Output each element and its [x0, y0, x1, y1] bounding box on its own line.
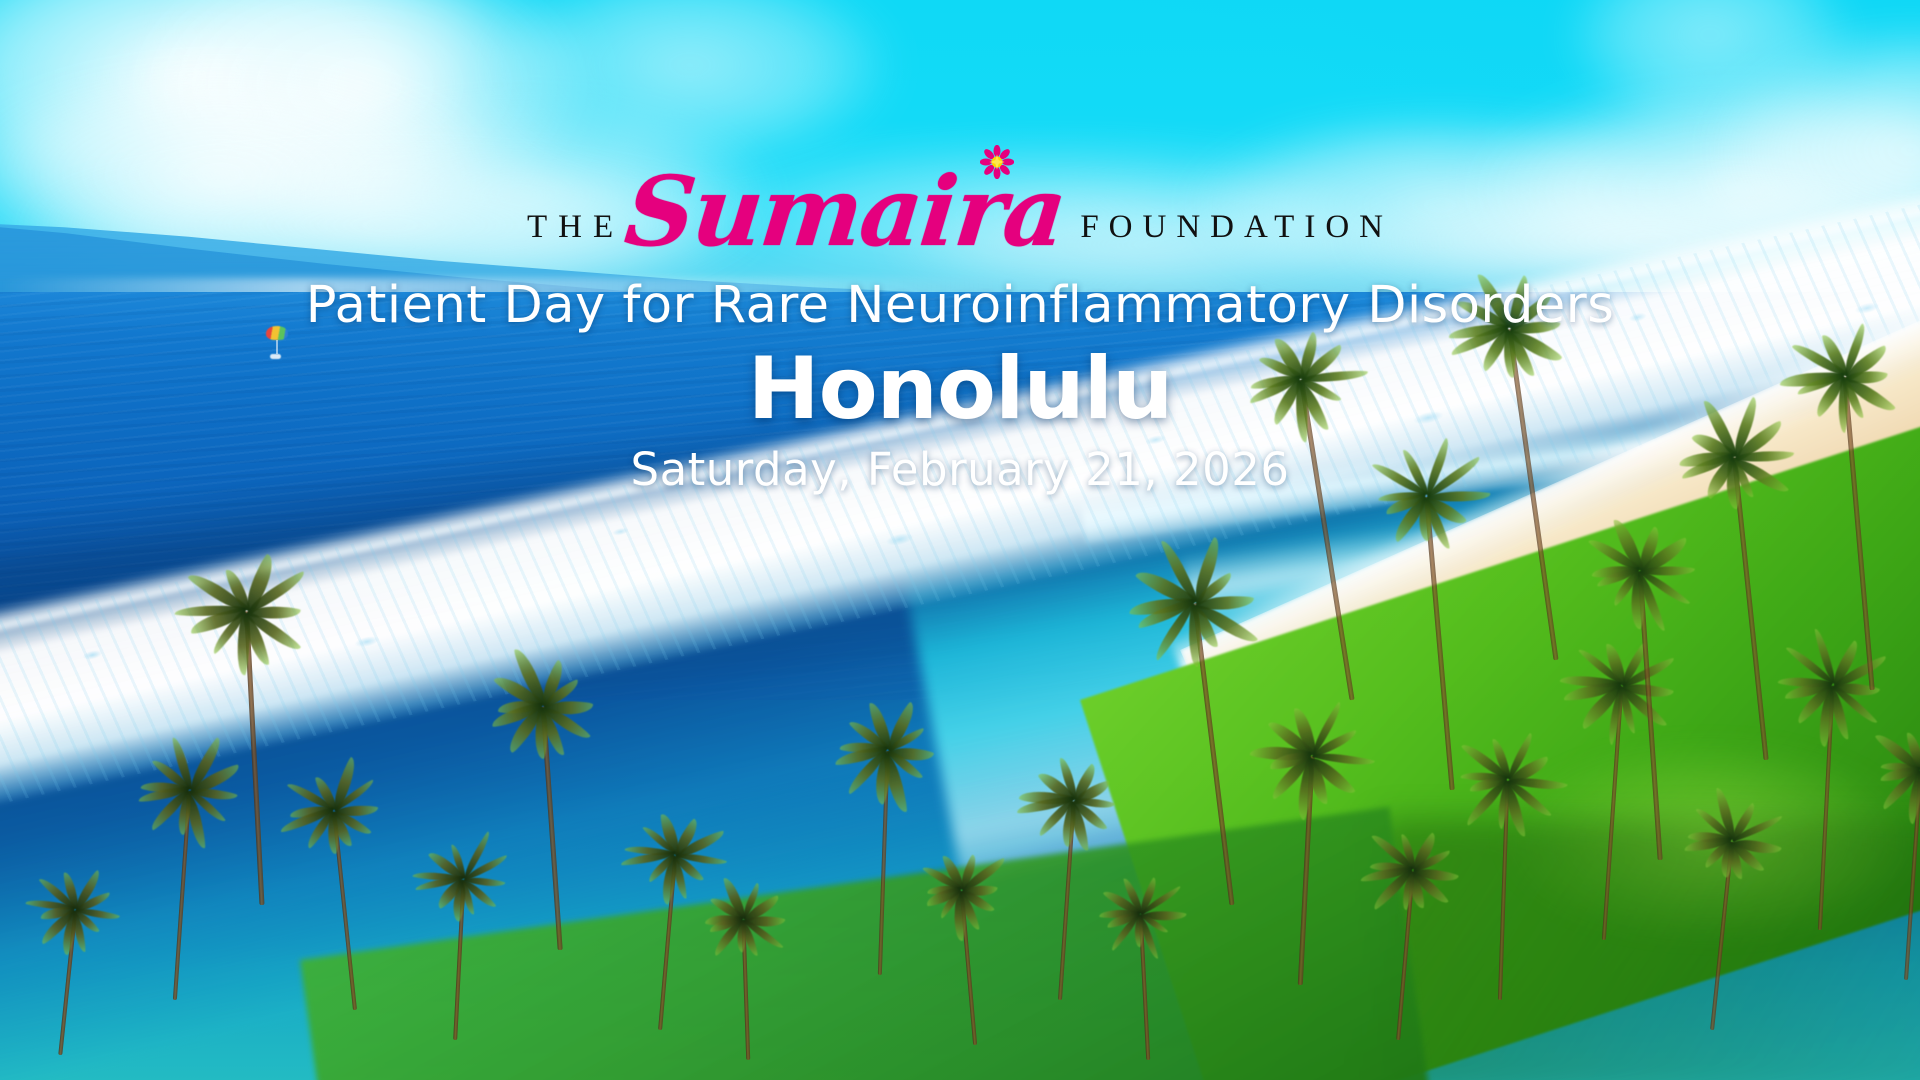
sumaira-foundation-logo[interactable]: THE Sumaira: [527, 160, 1393, 252]
event-date: Saturday, February 21, 2026: [631, 443, 1290, 496]
logo-the-label: THE: [527, 211, 624, 252]
flower-icon: [980, 145, 1014, 179]
logo-foundation-label: FOUNDATION: [1080, 211, 1393, 252]
event-banner: THE Sumaira: [0, 0, 1920, 1080]
event-subtitle: Patient Day for Rare Neuroinflammatory D…: [306, 276, 1615, 335]
event-city: Honolulu: [748, 341, 1173, 437]
logo-script-label: Sumaira: [622, 173, 1068, 252]
logo-script-wrap: Sumaira: [626, 173, 1064, 252]
banner-content: THE Sumaira: [0, 0, 1920, 1080]
